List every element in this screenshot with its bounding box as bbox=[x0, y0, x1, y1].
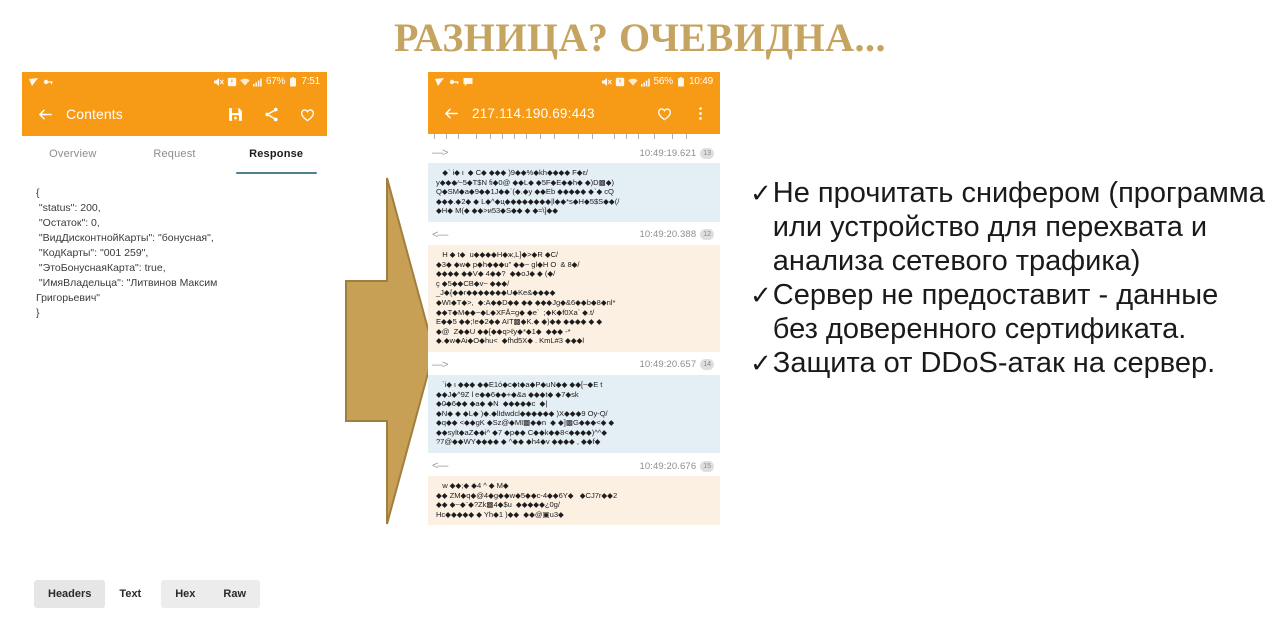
left-status-icons-right: 67% 7:51 bbox=[214, 77, 320, 87]
ruler-tick bbox=[434, 134, 435, 139]
wifi-icon bbox=[240, 77, 250, 87]
vpn-icon bbox=[435, 77, 445, 87]
share-icon[interactable] bbox=[261, 104, 281, 124]
packet-header: —>10:49:19.62113 bbox=[428, 143, 720, 163]
ruler-tick bbox=[614, 134, 615, 139]
incoming-arrow-icon: <— bbox=[432, 229, 447, 241]
ruler-tick bbox=[476, 134, 477, 139]
heart-icon[interactable] bbox=[297, 104, 317, 124]
right-status-icons-right: 56% 10:49 bbox=[602, 77, 713, 87]
battery-icon bbox=[288, 77, 298, 87]
packet-payload: `i◆ ι ◆◆◆ ◆◆E1ó◆c◆t◆a◆P◆uN◆◆ ◆◆[~◆E t ◆◆… bbox=[428, 375, 720, 453]
packet-header: <—10:49:20.67615 bbox=[428, 456, 720, 476]
ruler-tick bbox=[446, 134, 447, 139]
right-status-icons-left bbox=[435, 77, 473, 87]
left-phone-screenshot: 67% 7:51 Contents bbox=[22, 72, 327, 612]
packet-item[interactable]: —>10:49:20.65714 `i◆ ι ◆◆◆ ◆◆E1ó◆c◆t◆a◆P… bbox=[428, 355, 720, 453]
packet-payload: H ◆ t◆ u◆◆◆◆H◆ж,L]◆>◆R ◆C/ ◆3◆ ◆w◆ p◆h◆◆… bbox=[428, 245, 720, 352]
left-appbar-title: Contents bbox=[66, 106, 123, 122]
ruler-tick bbox=[578, 134, 579, 139]
save-icon[interactable] bbox=[225, 104, 245, 124]
packet-item[interactable]: —>10:49:19.62113 ◆` i◆ ι ◆ C◆ ◆◆◆ )9◆◆%◆… bbox=[428, 143, 720, 222]
left-status-icons-left bbox=[29, 77, 53, 87]
right-status-bar: 56% 10:49 bbox=[428, 72, 720, 92]
signal-icon bbox=[253, 77, 263, 87]
left-app-bar: Contents bbox=[22, 92, 327, 136]
ruler-ticks bbox=[428, 134, 720, 143]
right-clock: 10:49 bbox=[689, 77, 713, 87]
packet-list: —>10:49:19.62113 ◆` i◆ ι ◆ C◆ ◆◆◆ )9◆◆%◆… bbox=[428, 143, 720, 525]
left-battery-percent: 67% bbox=[266, 77, 285, 87]
left-bottom-toolbar: Headers Text Hex Raw bbox=[34, 580, 260, 608]
mute-icon bbox=[602, 77, 612, 87]
outgoing-arrow-icon: —> bbox=[432, 147, 447, 159]
hex-raw-group: Hex Raw bbox=[161, 580, 260, 608]
heart-icon[interactable] bbox=[654, 103, 674, 123]
packet-timestamp: 10:49:20.657 bbox=[640, 359, 697, 370]
packet-timestamp: 10:49:20.388 bbox=[640, 229, 697, 240]
response-json-body: { "status": 200, "Остаток": 0, "ВидДиско… bbox=[22, 172, 327, 331]
back-icon[interactable] bbox=[32, 101, 58, 127]
ruler-tick bbox=[638, 134, 639, 139]
left-status-bar: 67% 7:51 bbox=[22, 72, 327, 92]
list-item: ✓ Не прочитать снифером (программа или у… bbox=[750, 176, 1270, 278]
bullet-text: Сервер не предоставит - данные без довер… bbox=[773, 278, 1270, 346]
left-tab-bar: Overview Request Response bbox=[22, 136, 327, 172]
signal-icon bbox=[641, 77, 651, 87]
packet-header: —>10:49:20.65714 bbox=[428, 355, 720, 375]
wifi-icon bbox=[628, 77, 638, 87]
vpn-icon bbox=[29, 77, 39, 87]
packet-index-badge: 14 bbox=[700, 359, 714, 370]
ruler-tick bbox=[626, 134, 627, 139]
battery-icon bbox=[676, 77, 686, 87]
incoming-arrow-icon: <— bbox=[432, 460, 447, 472]
checkmark-icon: ✓ bbox=[750, 346, 772, 380]
ruler-tick bbox=[458, 134, 459, 139]
packet-meta: 10:49:20.65714 bbox=[640, 359, 714, 370]
packet-index-badge: 12 bbox=[700, 229, 714, 240]
comparison-arrow-icon bbox=[344, 176, 436, 526]
packet-payload: ◆` i◆ ι ◆ C◆ ◆◆◆ )9◆◆%◆kh◆◆◆◆ F◆ε/ y◆◆◆⁄… bbox=[428, 163, 720, 222]
page-title: РАЗНИЦА? ОЧЕВИДНА... bbox=[0, 14, 1280, 61]
ruler-tick bbox=[554, 134, 555, 139]
ruler-tick bbox=[654, 134, 655, 139]
list-item: ✓ Сервер не предоставит - данные без дов… bbox=[750, 278, 1270, 346]
slide-root: РАЗНИЦА? ОЧЕВИДНА... bbox=[0, 0, 1280, 634]
packet-timestamp: 10:49:19.621 bbox=[640, 148, 697, 159]
ruler-tick bbox=[686, 134, 687, 139]
tab-response[interactable]: Response bbox=[225, 136, 327, 172]
headers-button[interactable]: Headers bbox=[34, 580, 105, 608]
packet-index-badge: 15 bbox=[700, 461, 714, 472]
packet-index-badge: 13 bbox=[700, 148, 714, 159]
packet-item[interactable]: <—10:49:20.67615 w ◆◆;◆ ◆4 ^ ◆ M◆ ◆◆ ZM◆… bbox=[428, 456, 720, 525]
right-appbar-actions bbox=[654, 103, 710, 123]
list-item: ✓ Защита от DDoS-атак на сервер. bbox=[750, 346, 1270, 380]
packet-meta: 10:49:19.62113 bbox=[640, 148, 714, 159]
outgoing-arrow-icon: —> bbox=[432, 359, 447, 371]
ruler-tick bbox=[514, 134, 515, 139]
raw-button[interactable]: Raw bbox=[209, 580, 260, 608]
left-clock: 7:51 bbox=[301, 77, 320, 87]
tab-request[interactable]: Request bbox=[124, 136, 226, 172]
ruler-tick bbox=[490, 134, 491, 139]
key-icon bbox=[43, 77, 53, 87]
alarm-icon bbox=[615, 77, 625, 87]
right-appbar-title: 217.114.190.69:443 bbox=[472, 106, 595, 121]
packet-payload: w ◆◆;◆ ◆4 ^ ◆ M◆ ◆◆ ZM◆q◆@4◆g◆◆w◆5◆◆c-4◆… bbox=[428, 476, 720, 525]
right-phone-screenshot: 56% 10:49 217.114.190.69:443 bbox=[428, 72, 720, 632]
checkmark-icon: ✓ bbox=[750, 278, 772, 312]
key-icon bbox=[449, 77, 459, 87]
tab-overview[interactable]: Overview bbox=[22, 136, 124, 172]
right-app-bar: 217.114.190.69:443 bbox=[428, 92, 720, 134]
ruler-tick bbox=[592, 134, 593, 139]
packet-header: <—10:49:20.38812 bbox=[428, 225, 720, 245]
packet-timestamp: 10:49:20.676 bbox=[640, 461, 697, 472]
checkmark-icon: ✓ bbox=[750, 176, 772, 210]
left-appbar-actions bbox=[225, 104, 317, 124]
message-icon bbox=[463, 77, 473, 87]
mute-icon bbox=[214, 77, 224, 87]
bullet-text: Не прочитать снифером (программа или уст… bbox=[773, 176, 1270, 278]
overflow-menu-icon[interactable] bbox=[690, 103, 710, 123]
right-battery-percent: 56% bbox=[654, 77, 673, 87]
packet-meta: 10:49:20.38812 bbox=[640, 229, 714, 240]
text-button[interactable]: Text bbox=[105, 580, 155, 608]
hex-button[interactable]: Hex bbox=[161, 580, 209, 608]
bullet-text: Защита от DDoS-атак на сервер. bbox=[773, 346, 1270, 380]
ruler-tick bbox=[672, 134, 673, 139]
ruler-tick bbox=[526, 134, 527, 139]
benefits-list: ✓ Не прочитать снифером (программа или у… bbox=[750, 176, 1270, 380]
alarm-icon bbox=[227, 77, 237, 87]
packet-meta: 10:49:20.67615 bbox=[640, 461, 714, 472]
ruler-tick bbox=[540, 134, 541, 139]
packet-item[interactable]: <—10:49:20.38812 H ◆ t◆ u◆◆◆◆H◆ж,L]◆>◆R … bbox=[428, 225, 720, 352]
ruler-tick bbox=[502, 134, 503, 139]
back-icon[interactable] bbox=[438, 100, 464, 126]
